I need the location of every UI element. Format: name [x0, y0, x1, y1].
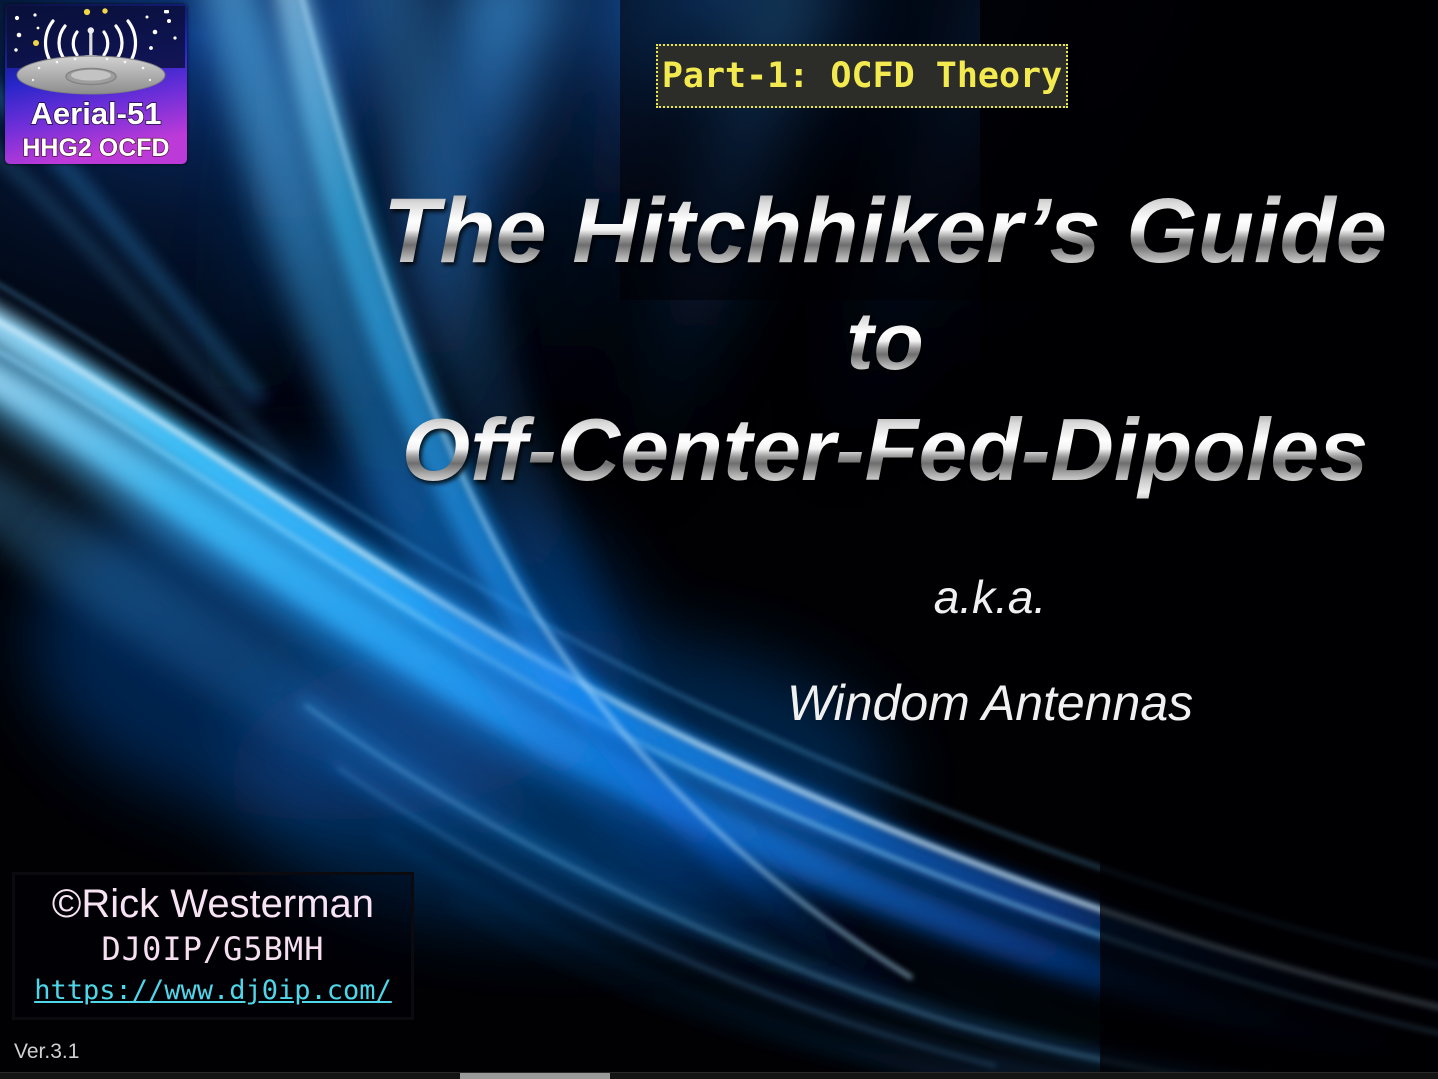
subtitle-block: a.k.a. Windom Antennas: [520, 570, 1438, 732]
ufo-flying-saucer-icon: Aerial-51 HHG2 OCFD: [5, 4, 187, 164]
title-line-1: The Hitchhiker’s Guide: [380, 172, 1390, 290]
scrollbar-track-left[interactable]: [0, 1073, 460, 1079]
scrollbar-thumb[interactable]: [460, 1073, 610, 1079]
credit-box: ©Rick Westerman DJ0IP/G5BMH https://www.…: [12, 872, 414, 1020]
part-title-label: Part-1: OCFD Theory: [662, 59, 1062, 94]
credit-callsigns: DJ0IP/G5BMH: [15, 927, 411, 971]
version-label: Ver.3.1: [14, 1040, 79, 1064]
title-line-3: Off-Center-Fed-Dipoles: [380, 394, 1390, 506]
subtitle-alt-name: Windom Antennas: [520, 674, 1438, 732]
presentation-slide-viewport: Aerial-51 HHG2 OCFD Part-1: OCFD Theory …: [0, 0, 1438, 1079]
part-title-banner: Part-1: OCFD Theory: [656, 44, 1068, 108]
logo-product-text: HHG2 OCFD: [22, 134, 169, 162]
page-title: The Hitchhiker’s Guide to Off-Center-Fed…: [380, 172, 1390, 506]
title-line-2: to: [380, 290, 1390, 394]
credit-website-link[interactable]: https://www.dj0ip.com/: [15, 971, 411, 1011]
credit-author: ©Rick Westerman: [15, 881, 411, 927]
subtitle-aka: a.k.a.: [520, 570, 1438, 624]
logo-brand-text: Aerial-51: [31, 96, 162, 131]
horizontal-scrollbar[interactable]: [0, 1072, 1438, 1079]
aerial-51-logo: Aerial-51 HHG2 OCFD: [5, 4, 187, 164]
slide-canvas: Aerial-51 HHG2 OCFD Part-1: OCFD Theory …: [0, 0, 1438, 1072]
scrollbar-track-right[interactable]: [610, 1073, 1438, 1079]
